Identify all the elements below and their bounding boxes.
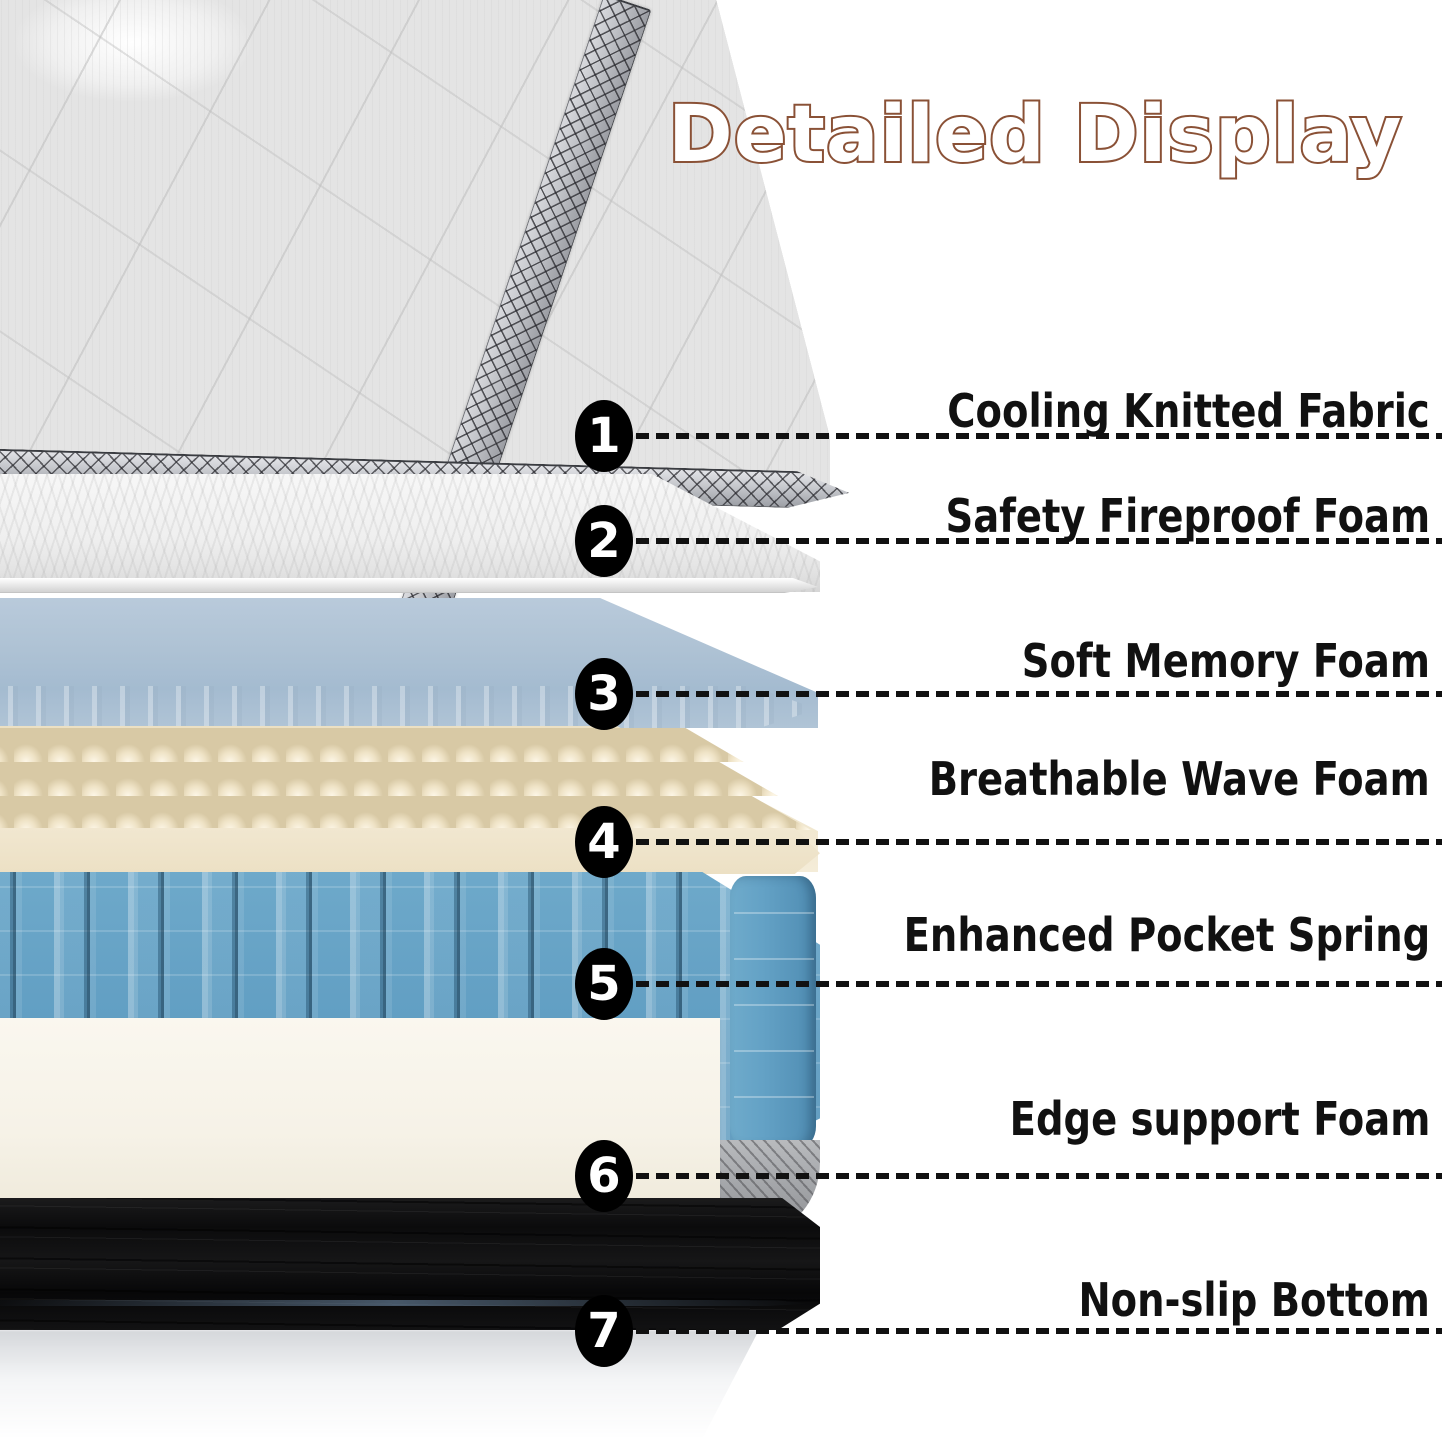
callout-label-4: Breathable Wave Foam xyxy=(929,752,1430,806)
callout-badge-3[interactable]: 3 xyxy=(575,658,633,730)
callout-badge-7[interactable]: 7 xyxy=(575,1295,633,1367)
fireproof-foam-edge xyxy=(0,578,818,593)
wave-foam-row xyxy=(0,728,810,762)
non-slip-bottom-highlight xyxy=(0,1300,810,1306)
floor-reflection xyxy=(0,1330,800,1440)
pocket-spring-end-coil-rings xyxy=(734,880,814,1144)
page-title: Detailed Display xyxy=(668,96,1403,174)
callout-badge-6[interactable]: 6 xyxy=(575,1140,633,1212)
callout-badge-2[interactable]: 2 xyxy=(575,505,633,577)
callout-leader-line-4 xyxy=(636,839,1442,845)
callout-badge-4[interactable]: 4 xyxy=(575,806,633,878)
callout-label-5: Enhanced Pocket Spring xyxy=(903,908,1430,962)
callout-leader-line-3 xyxy=(636,691,1442,697)
quilting-stitch-pattern xyxy=(0,0,830,500)
callout-leader-line-7 xyxy=(636,1328,1442,1334)
wave-foam-base xyxy=(0,828,820,874)
callout-badge-5[interactable]: 5 xyxy=(575,948,633,1020)
callout-label-7: Non-slip Bottom xyxy=(1079,1273,1430,1327)
callout-leader-line-6 xyxy=(636,1173,1442,1179)
product-layer-diagram: Detailed Display 1 Cooling Knitted Fabri… xyxy=(0,0,1445,1445)
wave-foam-row xyxy=(0,796,828,830)
callout-badge-1[interactable]: 1 xyxy=(575,400,633,472)
callout-label-3: Soft Memory Foam xyxy=(1022,634,1430,688)
wave-foam-row xyxy=(0,762,820,796)
callout-leader-line-5 xyxy=(636,981,1442,987)
callout-label-6: Edge support Foam xyxy=(1009,1092,1430,1146)
non-slip-bottom-ribs xyxy=(0,1198,820,1330)
callout-label-2: Safety Fireproof Foam xyxy=(945,489,1430,543)
callout-label-1: Cooling Knitted Fabric xyxy=(948,384,1430,438)
